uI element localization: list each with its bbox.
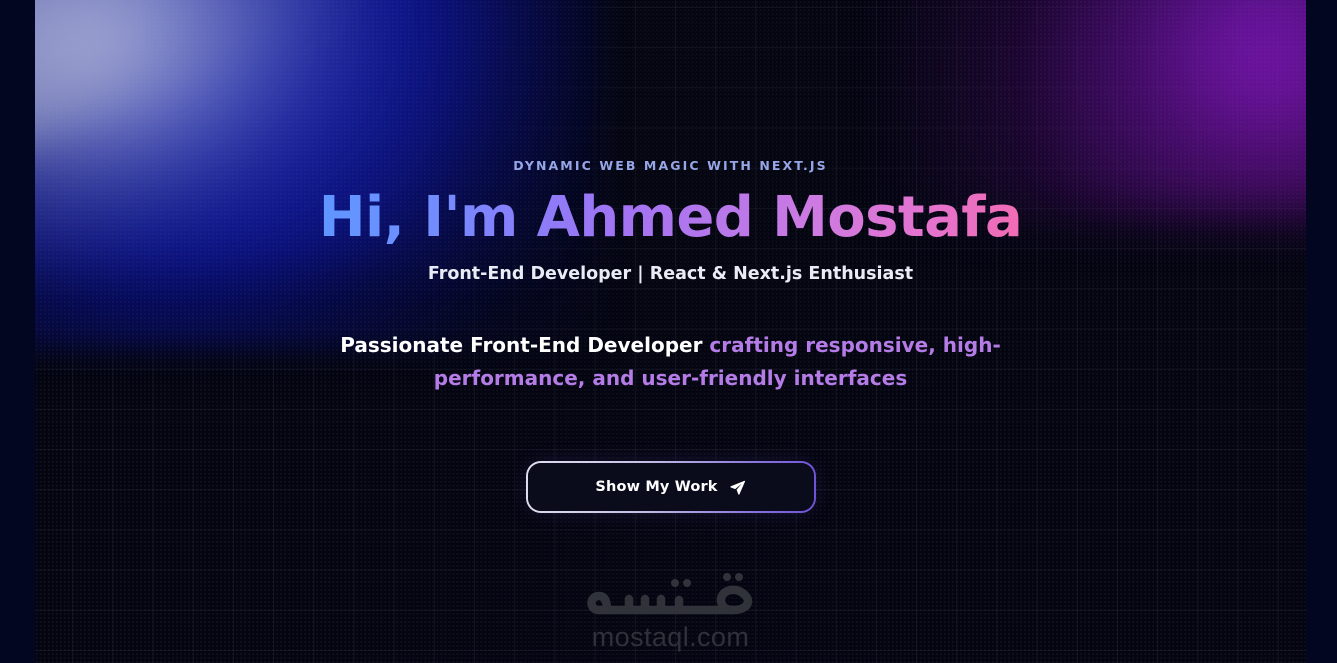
browser-viewport: DYNAMIC WEB MAGIC WITH NEXT.JS Hi, I'm A… [0, 0, 1337, 663]
page-title: Hi, I'm Ahmed Mostafa [319, 190, 1022, 246]
hero-description-lead: Passionate Front-End Developer [340, 333, 709, 357]
show-my-work-button[interactable]: Show My Work [528, 463, 814, 511]
left-margin-strip [0, 0, 35, 663]
hero-page: DYNAMIC WEB MAGIC WITH NEXT.JS Hi, I'm A… [35, 0, 1306, 663]
show-my-work-label: Show My Work [595, 479, 717, 495]
hero-subtitle: Front-End Developer | React & Next.js En… [428, 264, 913, 284]
hero-section: DYNAMIC WEB MAGIC WITH NEXT.JS Hi, I'm A… [35, 0, 1306, 663]
right-margin-strip [1306, 0, 1337, 663]
cta-container: Show My Work [528, 463, 814, 511]
hero-description: Passionate Front-End Developer crafting … [331, 329, 1011, 395]
mostaql-watermark: mostaql.com [583, 566, 759, 653]
mostaql-watermark-text: mostaql.com [592, 622, 749, 653]
send-icon [729, 479, 746, 496]
mostaql-logo-icon [583, 566, 759, 621]
hero-eyebrow: DYNAMIC WEB MAGIC WITH NEXT.JS [513, 158, 827, 173]
